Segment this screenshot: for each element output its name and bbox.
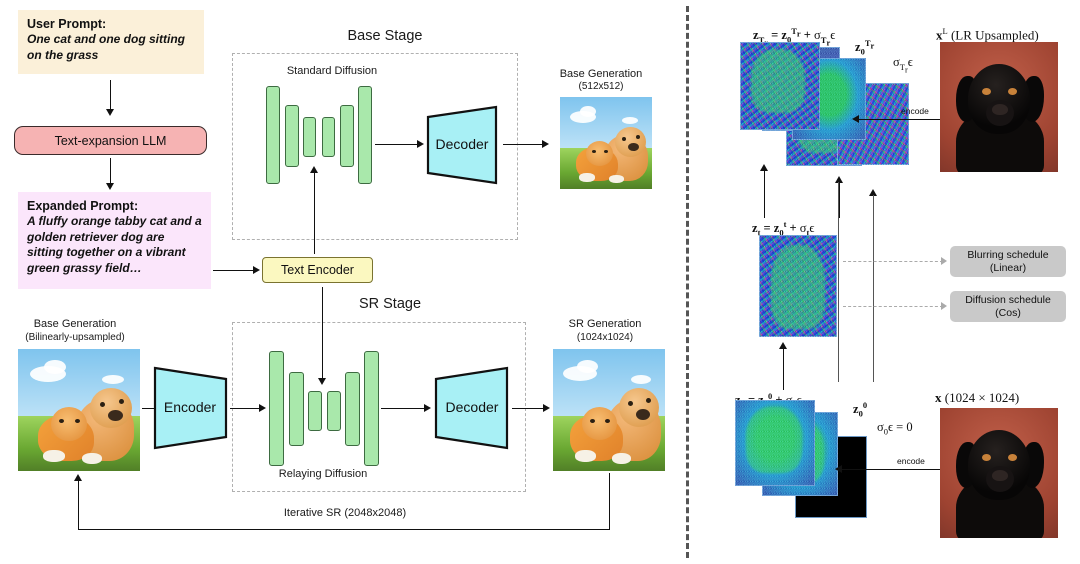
row3-composite-tile [735, 400, 815, 486]
cat-eye [75, 419, 80, 423]
row1-clean-label: z0Tr [855, 38, 874, 57]
base-decoder-label: Decoder [426, 136, 498, 152]
expanded-prompt-card: Expanded Prompt: A fluffy orange tabby c… [18, 192, 211, 289]
arrow-sr-decoder-to-output [543, 404, 550, 412]
cloud-icon [580, 106, 596, 117]
text-encoder-box[interactable]: Text Encoder [262, 257, 373, 283]
row1-composite-tile [740, 42, 820, 130]
connector-llm-to-expanded [110, 158, 111, 184]
cat-eye [604, 150, 608, 153]
dog-head [615, 127, 646, 157]
noise-grain [740, 42, 820, 130]
dog-snout [636, 409, 650, 420]
unet-bar [303, 117, 316, 157]
arrow-row3-encode [835, 465, 842, 473]
dog-eye [1008, 88, 1017, 95]
connector-row3-to-row2 [783, 348, 784, 390]
arrow-row3-to-row2 [779, 342, 787, 349]
cat-eye [592, 150, 596, 153]
dog-eye [982, 454, 991, 461]
sr-input-sub: (Bilinearly-upsampled) [10, 332, 140, 343]
unet-bar [345, 372, 360, 446]
sr-unet-label: Relaying Diffusion [258, 468, 388, 480]
dog-eye [622, 137, 626, 141]
unet-bar [322, 117, 335, 157]
dog-paw [609, 175, 624, 183]
connector-row1-encode [858, 119, 946, 120]
dog-head [90, 388, 132, 428]
row3-encode-label: encode [897, 456, 925, 466]
cat-head [586, 141, 613, 166]
sr-input-image [18, 349, 140, 471]
arrow-blurring-schedule [941, 257, 947, 265]
arrow-base-unet-to-decoder [417, 140, 424, 148]
sr-output-image [553, 349, 665, 471]
cat-head [51, 407, 87, 441]
connector-encoder-to-base-unet [314, 170, 315, 254]
unet-bar [327, 391, 341, 431]
dog-eye [119, 399, 124, 404]
unet-bar [269, 351, 284, 466]
expanded-prompt-heading: Expanded Prompt: [27, 199, 202, 214]
sr-decoder-label: Decoder [434, 399, 510, 415]
noise-grain [735, 400, 815, 486]
unet-bar [266, 86, 280, 184]
cat-eye [605, 419, 610, 423]
connector-row2-to-row1-a [764, 170, 765, 218]
arrow-base-decoder-to-output [542, 140, 549, 148]
connector-blurring-schedule [843, 261, 943, 262]
arrow-encoder-to-sr-unet [259, 404, 266, 412]
arrow-encoder-to-sr-unet-top [318, 378, 326, 385]
sr-encoder-label: Encoder [152, 399, 228, 415]
row1-encode-label: encode [901, 106, 929, 116]
row3-clean-label: z00 [853, 400, 867, 419]
connector-vertical-long-a [838, 182, 839, 382]
ground-truth-photo [940, 408, 1058, 538]
unet-bar [285, 105, 299, 167]
diffusion-schedule-line1: Diffusion schedule [965, 294, 1051, 307]
arrow-sr-unet-to-decoder [424, 404, 431, 412]
row3-noise-label: σ0ϵ = 0 [877, 420, 913, 437]
connector-feedback-bottom [78, 529, 610, 530]
sr-output-sub: (1024x1024) [540, 332, 670, 343]
base-generation-image [560, 97, 652, 189]
blurring-schedule-line2: (Linear) [990, 262, 1026, 275]
dog-paw [612, 453, 631, 464]
cat-eye [590, 419, 595, 423]
cloud-icon [622, 117, 638, 124]
cloud-icon [102, 375, 124, 384]
unet-bar [364, 351, 379, 466]
connector-base-unet-to-decoder [375, 144, 418, 145]
row3-photo-label: x (1024 × 1024) [935, 390, 1019, 406]
cat-head [582, 407, 617, 440]
base-output-title: Base Generation [538, 68, 664, 80]
connector-encoder-to-sr-unet-top [322, 287, 323, 379]
arrow-row1-encode [852, 115, 859, 123]
blurring-schedule-box: Blurring schedule (Linear) [950, 246, 1066, 277]
sr-encoder-shape[interactable]: Encoder [152, 365, 228, 451]
diffusion-schedule-line2: (Cos) [995, 307, 1021, 320]
cloud-icon [631, 375, 651, 384]
cloud-icon [44, 360, 66, 374]
panel-divider [686, 6, 689, 558]
dog-head [619, 388, 659, 427]
dog-snout [108, 410, 123, 421]
row1-noise-label: σTrϵ [893, 55, 913, 74]
base-stage-title: Base Stage [290, 28, 480, 44]
dog-nose [992, 470, 1008, 481]
cat-eye [59, 419, 64, 423]
row1-photo-label: xL (LR Upsampled) [936, 26, 1039, 43]
base-output-sub: (512x512) [538, 81, 664, 92]
sr-input-title: Base Generation [10, 318, 140, 330]
diffusion-schedule-box: Diffusion schedule (Cos) [950, 291, 1066, 322]
dog-eye [100, 402, 105, 407]
arrow-row2-to-row1-a [760, 164, 768, 171]
dog-nose [992, 104, 1008, 115]
blurring-schedule-line1: Blurring schedule [967, 249, 1048, 262]
connector-prompt-to-llm [110, 80, 111, 110]
connector-encoder-to-sr-unet [230, 408, 260, 409]
unet-bar [358, 86, 372, 184]
dog-eye [1008, 454, 1017, 461]
expanded-prompt-body: A fluffy orange tabby cat and a golden r… [27, 214, 202, 276]
cat-paw [579, 173, 595, 182]
dog-eye [646, 398, 651, 403]
unet-bar [289, 372, 304, 446]
base-decoder-shape[interactable]: Decoder [426, 105, 498, 185]
cat-paw [43, 450, 65, 462]
sr-decoder-shape[interactable]: Decoder [434, 365, 510, 451]
dog-eye [628, 401, 633, 406]
connector-diffusion-schedule [843, 306, 943, 307]
connector-feedback-left [78, 480, 79, 530]
arrow-encoder-to-base-unet [310, 166, 318, 173]
connector-expanded-to-encoder [213, 270, 254, 271]
dog-paw [82, 453, 102, 464]
dog-eye [636, 135, 640, 139]
lr-upsampled-photo [940, 42, 1058, 172]
user-prompt-body: One cat and one dog sitting on the grass [27, 32, 195, 63]
cloud-icon [577, 360, 598, 373]
arrow-diffusion-schedule [941, 302, 947, 310]
sr-output-title: SR Generation [540, 318, 670, 330]
dog-eye [982, 88, 991, 95]
base-unet-label: Standard Diffusion [252, 65, 412, 77]
connector-base-decoder-to-output [503, 144, 543, 145]
connector-vertical-long-b [873, 195, 874, 382]
iterative-sr-label: Iterative SR (2048x2048) [230, 507, 460, 519]
user-prompt-card: User Prompt: One cat and one dog sitting… [18, 10, 204, 74]
noise-grain [759, 235, 837, 337]
connector-sr-unet-to-decoder [381, 408, 425, 409]
dog-snout [628, 143, 639, 151]
sr-stage-title: SR Stage [300, 296, 480, 312]
connector-row3-encode [841, 469, 943, 470]
user-prompt-heading: User Prompt: [27, 17, 195, 32]
text-encoder-label: Text Encoder [281, 263, 354, 277]
unet-bar [340, 105, 354, 167]
arrow-expanded-to-encoder [253, 266, 260, 274]
arrow-feedback-to-input [74, 474, 82, 481]
arrow-prompt-to-llm [106, 109, 114, 116]
unet-bar [308, 391, 322, 431]
row2-latent-tile [759, 235, 837, 337]
connector-feedback-right [609, 473, 610, 530]
arrow-llm-to-expanded [106, 183, 114, 190]
text-expansion-llm-label: Text-expansion LLM [55, 134, 167, 148]
cat-paw [575, 450, 596, 462]
text-expansion-llm-box[interactable]: Text-expansion LLM [14, 126, 207, 155]
connector-sr-decoder-to-output [512, 408, 544, 409]
